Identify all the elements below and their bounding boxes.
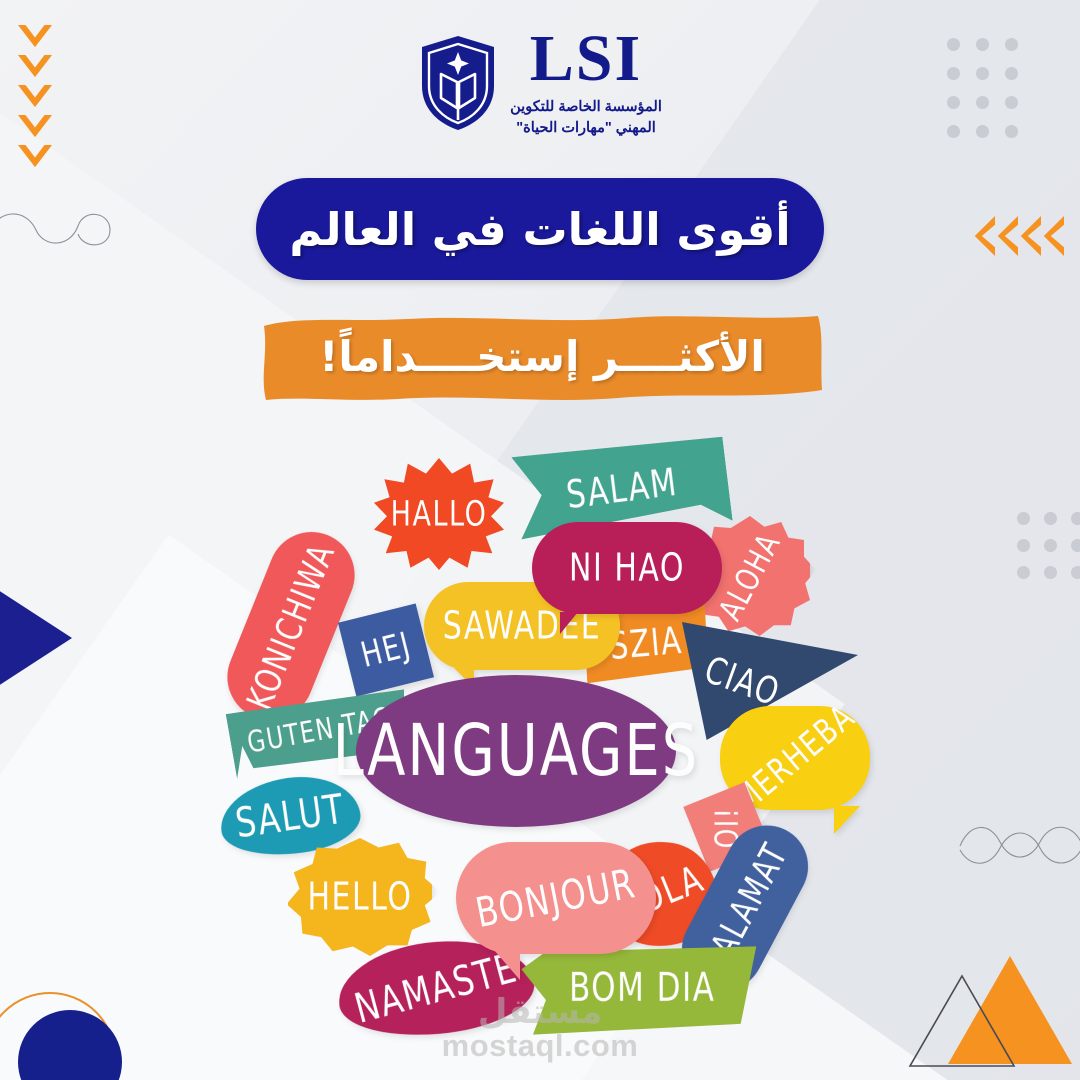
bubble-ni-hao: NI HAO [532, 522, 722, 614]
wave-line-right-icon [956, 818, 1080, 868]
brand-name: LSI [530, 26, 642, 92]
shield-book-star-icon [418, 34, 498, 132]
chevron-left-icon [973, 216, 995, 256]
chevron-left-icon [1019, 216, 1041, 256]
outline-triangle-bottomright [906, 972, 1018, 1070]
bubble-label: HELLO [308, 875, 413, 920]
headline-primary-banner: أقوى اللغات في العالم [256, 178, 824, 280]
dot-grid-right [1017, 512, 1080, 579]
bubble-label: BONJOUR [472, 859, 640, 938]
bubble-bonjour: BONJOUR [456, 842, 656, 954]
bubble-hello: HELLO [288, 838, 432, 956]
poster-canvas: LSI المؤسسة الخاصة للتكوين المهني "مهارا… [0, 0, 1080, 1080]
brand-tagline-line1: المؤسسة الخاصة للتكوين [510, 97, 662, 118]
bubble-label: BOM DIA [569, 965, 715, 1011]
brand-tagline: المؤسسة الخاصة للتكوين المهني "مهارات ال… [510, 97, 662, 139]
bubble-label: HEJ [357, 625, 415, 676]
chevron-left-group [973, 216, 1064, 256]
bubble-label: CIAO [699, 647, 786, 714]
headline-secondary-banner: الأكثــــر إستخــــداماً! [258, 310, 826, 402]
navy-triangle-left [0, 560, 72, 716]
bubble-hej: HEJ [338, 603, 434, 696]
center-label: LANGUAGES [333, 709, 700, 792]
chevron-left-icon [996, 216, 1018, 256]
chevron-down-icon [18, 145, 52, 171]
headline-primary-text: أقوى اللغات في العالم [289, 203, 790, 256]
bubble-label: NI HAO [569, 546, 685, 591]
brand-logo-text: LSI المؤسسة الخاصة للتكوين المهني "مهارا… [510, 26, 662, 139]
bubble-label: KONICHIWA [238, 537, 343, 716]
brand-logo: LSI المؤسسة الخاصة للتكوين المهني "مهارا… [0, 26, 1080, 139]
bubble-label: HALLO [391, 494, 488, 534]
bubble-label: SALAM [564, 460, 680, 518]
language-bubble-cluster: HALLO SALAM NI HAO ALOHA KONICHIWA SAWAD… [196, 430, 886, 1050]
wave-line-topleft-icon [0, 200, 116, 254]
headline-secondary-text: الأكثــــر إستخــــداماً! [258, 310, 826, 402]
bubble-languages-center: LANGUAGES [356, 675, 676, 827]
chevron-left-icon [1042, 216, 1064, 256]
bubble-label: ALOHA [712, 526, 789, 626]
bubble-label: SALUT [232, 784, 347, 847]
bubble-hallo: HALLO [374, 458, 504, 570]
brand-tagline-line2: المهني "مهارات الحياة" [510, 118, 662, 139]
